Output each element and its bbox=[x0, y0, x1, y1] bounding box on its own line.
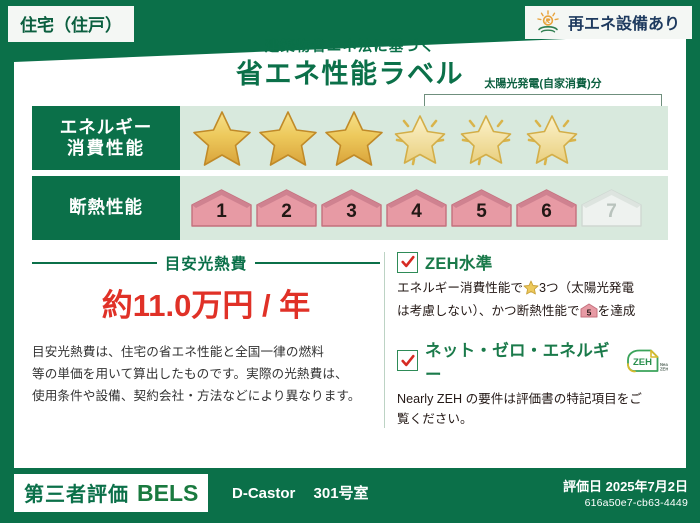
zeh-standard-description: エネルギー消費性能で3つ（太陽光発電 は考慮しない）、かつ断熱性能で5を達成 bbox=[397, 278, 668, 325]
lower-panels: 目安光熱費 約11.0万円 / 年 目安光熱費は、住宅の省エネ性能と全国一律の燃… bbox=[32, 250, 668, 430]
zeh-desc-text-1: エネルギー消費性能で bbox=[397, 281, 523, 295]
zeh-panel: ZEH水準 エネルギー消費性能で3つ（太陽光発電 は考慮しない）、かつ断熱性能で… bbox=[397, 250, 668, 430]
red-check-icon bbox=[397, 350, 418, 371]
house-chevron-icon: 4 bbox=[385, 187, 448, 229]
cost-heading: 目安光熱費 bbox=[32, 252, 380, 274]
cost-note-line2: 等の単価を用いて算出したものです。実際の光熱費は、 bbox=[32, 363, 380, 385]
energy-caption-line2: 消費性能 bbox=[67, 138, 145, 159]
house-chevron-icon: 5 bbox=[450, 187, 513, 229]
energy-caption-line1: エネルギー bbox=[60, 117, 153, 138]
panel-divider bbox=[384, 252, 385, 428]
insulation-level-value: 1 bbox=[190, 201, 253, 223]
room-number: 301号室 bbox=[314, 485, 369, 502]
performance-block: エネルギー 消費性能 bbox=[32, 106, 668, 246]
house-chevron-icon: 2 bbox=[255, 187, 318, 229]
insulation-caption-label: 断熱性能 bbox=[69, 197, 143, 218]
label-content: エネルギー 消費性能 bbox=[14, 34, 686, 468]
insulation-performance-row: 断熱性能 1 2 3 bbox=[32, 176, 668, 240]
net-zero-title: ネット・ゼロ・エネルギー bbox=[425, 337, 615, 385]
evaluation-date: 評価日 2025年7月2日 bbox=[563, 476, 688, 495]
cost-panel: 目安光熱費 約11.0万円 / 年 目安光熱費は、住宅の省エネ性能と全国一律の燃… bbox=[32, 250, 380, 430]
zeh-standard-item: ZEH水準 エネルギー消費性能で3つ（太陽光発電 は考慮しない）、かつ断熱性能で… bbox=[397, 250, 668, 325]
star-icon bbox=[322, 108, 386, 168]
cost-note-line1: 目安光熱費は、住宅の省エネ性能と全国一律の燃料 bbox=[32, 341, 380, 363]
bels-en-label: BELS bbox=[137, 480, 198, 507]
cost-value: 約11.0万円 / 年 bbox=[32, 280, 380, 325]
evaluation-id: 616a50e7-cb63-4449 bbox=[563, 497, 688, 509]
zeh-desc-text-4: を達成 bbox=[598, 304, 636, 318]
energy-performance-label: 住宅（住戸） 再エネ設備あり 建築物省エネ法に基づく 省エネ性能ラベル bbox=[0, 0, 700, 523]
star-icon bbox=[256, 108, 320, 168]
insulation-performance-caption: 断熱性能 bbox=[32, 176, 180, 240]
cost-heading-label: 目安光熱費 bbox=[165, 252, 248, 274]
energy-performance-caption: エネルギー 消費性能 bbox=[32, 106, 180, 170]
star-icon-solar bbox=[520, 108, 584, 168]
star-icon-solar bbox=[388, 108, 452, 168]
cost-heading-rule-left bbox=[32, 262, 157, 264]
solar-sun-icon bbox=[535, 10, 561, 34]
label-footer: 第三者評価 BELS D-Castor 301号室 評価日 2025年7月2日 … bbox=[0, 468, 700, 523]
net-zero-desc-line2: 覧ください。 bbox=[397, 409, 668, 429]
title-main: 省エネ性能ラベル bbox=[0, 58, 700, 91]
cost-heading-rule-right bbox=[255, 262, 380, 264]
insulation-level-value: 6 bbox=[515, 201, 578, 223]
net-zero-desc-line1: Nearly ZEH の要件は評価書の特記項目をご bbox=[397, 389, 668, 409]
solar-bracket-line bbox=[424, 94, 662, 106]
svg-text:5: 5 bbox=[586, 308, 591, 318]
house-chevron-icon: 3 bbox=[320, 187, 383, 229]
red-check-icon bbox=[397, 252, 418, 273]
insulation-level-value: 7 bbox=[580, 201, 643, 223]
evaluation-info: 評価日 2025年7月2日 616a50e7-cb63-4449 bbox=[563, 476, 688, 509]
insulation-level-value: 3 bbox=[320, 201, 383, 223]
net-zero-title-row: ネット・ゼロ・エネルギー ZEH Nearly ZEH bbox=[397, 337, 668, 385]
title-subtitle: 建築物省エネ法に基づく bbox=[0, 40, 700, 56]
net-zero-energy-item: ネット・ゼロ・エネルギー ZEH Nearly ZEH bbox=[397, 337, 668, 430]
renewable-energy-badge: 再エネ設備あり bbox=[525, 6, 692, 39]
cost-note: 目安光熱費は、住宅の省エネ性能と全国一律の燃料 等の単価を用いて算出したものです… bbox=[32, 341, 380, 407]
house-chevron-icon-inactive: 7 bbox=[580, 187, 643, 229]
star-icon-solar bbox=[454, 108, 518, 168]
zeh-standard-title-row: ZEH水準 bbox=[397, 250, 668, 274]
insulation-level-value: 5 bbox=[450, 201, 513, 223]
star-icon-inline bbox=[523, 284, 539, 298]
label-title: 建築物省エネ法に基づく 省エネ性能ラベル bbox=[0, 40, 700, 91]
insulation-level-scale: 1 2 3 4 5 bbox=[180, 176, 668, 240]
housing-type-tag: 住宅（住戸） bbox=[8, 6, 134, 42]
building-name: D-Castor bbox=[232, 485, 295, 502]
bels-badge: 第三者評価 BELS bbox=[14, 474, 208, 512]
building-info: D-Castor 301号室 bbox=[232, 482, 369, 503]
energy-star-rating bbox=[180, 106, 668, 170]
house-chevron-icon: 6 bbox=[515, 187, 578, 229]
star-icon bbox=[190, 108, 254, 168]
svg-text:ZEH: ZEH bbox=[660, 366, 668, 371]
net-zero-description: Nearly ZEH の要件は評価書の特記項目をご 覧ください。 bbox=[397, 389, 668, 430]
house-chevron-icon: 1 bbox=[190, 187, 253, 229]
bels-jp-label: 第三者評価 bbox=[24, 478, 129, 507]
zeh-desc-text-3: は考慮しない）、かつ断熱性能で bbox=[397, 304, 580, 318]
cost-note-line3: 使用条件や設備、契約会社・方法などにより異なります。 bbox=[32, 385, 380, 407]
insulation-level-value: 4 bbox=[385, 201, 448, 223]
insulation-level-value: 2 bbox=[255, 201, 318, 223]
svg-text:ZEH: ZEH bbox=[633, 357, 652, 368]
renewable-badge-label: 再エネ設備あり bbox=[568, 10, 680, 34]
zeh-desc-text-2: 3つ（太陽光発電 bbox=[539, 281, 634, 295]
zeh-standard-title: ZEH水準 bbox=[425, 250, 493, 274]
energy-performance-row: エネルギー 消費性能 bbox=[32, 106, 668, 170]
zeh-house-logo: ZEH Nearly ZEH bbox=[624, 348, 668, 374]
house-chevron-icon-inline: 5 bbox=[580, 307, 598, 321]
